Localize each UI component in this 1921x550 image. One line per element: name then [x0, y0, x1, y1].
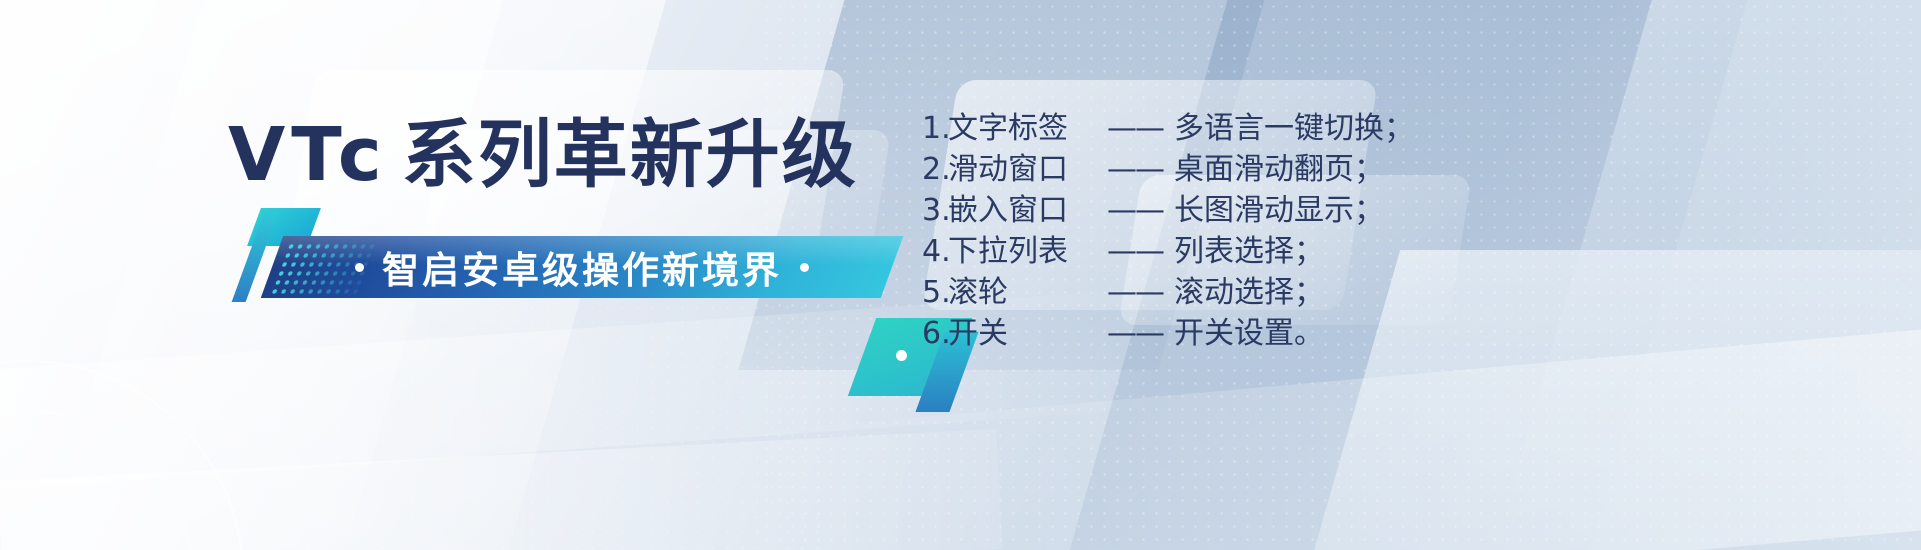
- feature-dash: ——: [1096, 108, 1174, 149]
- feature-row-3: 3. 嵌入窗口 —— 长图滑动显示；: [922, 190, 1414, 231]
- headline-product-name: VTc: [228, 112, 388, 198]
- feature-row-2: 2. 滑动窗口 —— 桌面滑动翻页；: [922, 149, 1414, 190]
- feature-name: 滚轮: [948, 272, 1096, 313]
- feature-row-5: 5. 滚轮 —— 滚动选择；: [922, 272, 1414, 313]
- feature-index: 1.: [922, 108, 948, 149]
- feature-index: 5.: [922, 272, 948, 313]
- bullet-dot-right-icon: [800, 263, 809, 272]
- teal-accent-dot-icon: [896, 350, 907, 361]
- ribbon-text-container: 智启安卓级操作新境界: [272, 236, 892, 298]
- feature-index: 3.: [922, 190, 948, 231]
- feature-index: 2.: [922, 149, 948, 190]
- feature-index: 6.: [922, 313, 948, 354]
- feature-desc: 多语言一键切换；: [1174, 108, 1414, 149]
- headline-tagline: 系列革新升级: [402, 112, 858, 198]
- feature-desc: 桌面滑动翻页；: [1174, 149, 1384, 190]
- feature-desc: 长图滑动显示；: [1174, 190, 1384, 231]
- banner-headline: VTc系列革新升级: [228, 118, 858, 192]
- feature-list: 1. 文字标签 —— 多语言一键切换； 2. 滑动窗口 —— 桌面滑动翻页； 3…: [922, 108, 1414, 354]
- feature-index: 4.: [922, 231, 948, 272]
- feature-desc: 列表选择；: [1174, 231, 1324, 272]
- product-banner: VTc系列革新升级 智启安卓级操作新境界 1. 文字标签 —— 多语言一键切换；…: [0, 0, 1921, 550]
- feature-name: 滑动窗口: [948, 149, 1096, 190]
- feature-dash: ——: [1096, 272, 1174, 313]
- subtitle-ribbon: 智启安卓级操作新境界: [248, 208, 908, 304]
- feature-dash: ——: [1096, 231, 1174, 272]
- feature-dash: ——: [1096, 313, 1174, 354]
- feature-desc: 开关设置。: [1174, 313, 1324, 354]
- feature-desc: 滚动选择；: [1174, 272, 1324, 313]
- subtitle-text: 智启安卓级操作新境界: [382, 240, 782, 294]
- feature-row-1: 1. 文字标签 —— 多语言一键切换；: [922, 108, 1414, 149]
- feature-row-4: 4. 下拉列表 —— 列表选择；: [922, 231, 1414, 272]
- feature-name: 下拉列表: [948, 231, 1096, 272]
- feature-dash: ——: [1096, 149, 1174, 190]
- feature-name: 嵌入窗口: [948, 190, 1096, 231]
- feature-row-6: 6. 开关 —— 开关设置。: [922, 313, 1414, 354]
- feature-name: 文字标签: [948, 108, 1096, 149]
- feature-dash: ——: [1096, 190, 1174, 231]
- bullet-dot-left-icon: [355, 263, 364, 272]
- feature-name: 开关: [948, 313, 1096, 354]
